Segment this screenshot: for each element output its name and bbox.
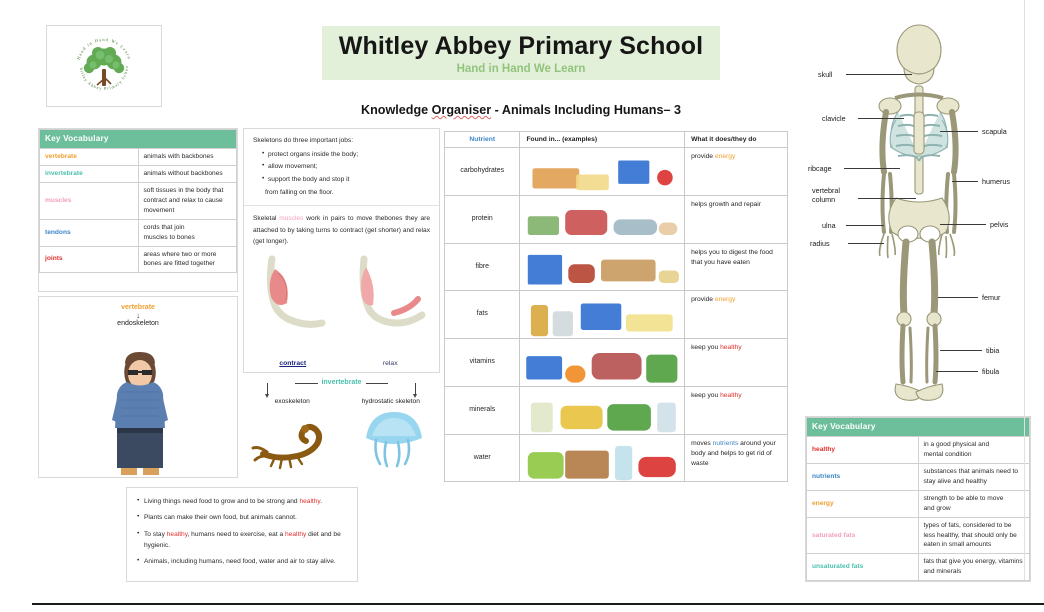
fact-item: Plants can make their own food, but anim…: [137, 512, 347, 523]
kv-definition: areas where two or more bones are fitted…: [138, 246, 237, 273]
kv-row: vertebrateanimals with backbones: [40, 149, 237, 166]
para-pre: Skeletal: [253, 215, 279, 222]
kv-definition: types of fats, considered to be less hea…: [918, 517, 1030, 554]
nutrient-col-header: Found in... (examples): [520, 132, 685, 148]
subtitle-pre: Knowledge: [361, 103, 432, 117]
skeleton-label-ulna: ulna: [822, 221, 836, 230]
leader-line: [846, 74, 912, 75]
kv-row: tendonscords that joinmuscles to bones: [40, 219, 237, 246]
kv-definition: fats that give you energy, vitamins and …: [918, 554, 1030, 581]
invertebrate-type-labels: exoskeleton hydrostatic skeleton: [243, 398, 440, 405]
fact-item: Animals, including humans, need food, wa…: [137, 556, 347, 567]
kv-right-header: Key Vocabulary: [807, 418, 1030, 437]
key-vocabulary-right-card: Key Vocabulary healthyin a good physical…: [805, 416, 1031, 582]
leader-line: [858, 198, 916, 199]
nutrient-effect: provide energy: [685, 148, 788, 196]
skeletal-muscles-paragraph: Skeletal muscles work in pairs to move t…: [244, 205, 439, 253]
skeleton-label-fibula: fibula: [982, 367, 999, 376]
fact-item: To stay healthy, humans need to exercise…: [137, 529, 347, 552]
leader-line: [940, 224, 986, 225]
relax-label: relax: [342, 360, 440, 367]
nutrient-effect: keep you healthy: [685, 339, 788, 387]
hydrostatic-skeleton-label: hydrostatic skeleton: [342, 398, 441, 405]
nutrient-name: fats: [445, 291, 520, 339]
girl-illustration: [97, 344, 183, 481]
nutrient-effect: moves nutrients around your body and hel…: [685, 434, 788, 482]
jobs-item: protect organs inside the body;: [262, 150, 430, 161]
skeleton-jobs-card: Skeletons do three important jobs: prote…: [243, 128, 440, 373]
nutrient-food-illustration: [520, 339, 685, 387]
kv-term: vertebrate: [40, 149, 139, 166]
kv-term: nutrients: [807, 464, 919, 491]
invertebrate-branch-left: [267, 383, 268, 394]
nutrient-effect: helps growth and repair: [685, 195, 788, 243]
leader-line: [938, 297, 978, 298]
skeleton-label-ribcage: ribcage: [808, 164, 832, 173]
leader-line: [844, 168, 900, 169]
skeleton-label-pelvis: pelvis: [990, 220, 1008, 229]
nutrient-name: minerals: [445, 386, 520, 434]
nutrient-row: watermoves nutrients around your body an…: [445, 434, 788, 482]
nutrient-name: fibre: [445, 243, 520, 291]
nutrient-effect: keep you healthy: [685, 386, 788, 434]
nutrient-food-illustration: [520, 386, 685, 434]
kv-term: invertebrate: [40, 166, 139, 183]
kv-definition: animals without backbones: [138, 166, 237, 183]
jellyfish-illustration: [358, 408, 430, 475]
nutrient-food-illustration: [520, 291, 685, 339]
knowledge-organiser-page: Hand in Hand We Learn Whitley Abbey Prim…: [0, 0, 1044, 612]
nutrient-food-illustration: [520, 148, 685, 196]
human-skeleton-diagram: skullclavicleribcagevertebralcolumnulnar…: [800, 12, 1038, 412]
nutrient-food-illustration: [520, 243, 685, 291]
skeleton-label-skull: skull: [818, 70, 832, 79]
skeleton-jobs-list: Skeletons do three important jobs: prote…: [244, 129, 439, 205]
vertebrate-heading: vertebrate ↓ endoskeleton: [39, 297, 237, 327]
kv-definition: in a good physical andmental condition: [918, 437, 1030, 464]
muscle-state-labels: contract relax: [244, 360, 439, 367]
jobs-item3-continuation: from falling on the floor.: [253, 188, 430, 199]
leader-line: [846, 225, 884, 226]
effect-highlight: energy: [715, 296, 735, 303]
effect-highlight: healthy: [720, 392, 742, 399]
leader-line: [858, 118, 904, 119]
kv-row: jointsareas where two or more bones are …: [40, 246, 237, 273]
nutrient-food-illustration: [520, 434, 685, 482]
nutrient-row: carbohydratesprovide energy: [445, 148, 788, 196]
down-arrow-icon: ↓: [39, 311, 237, 320]
vertebrate-label: vertebrate: [39, 304, 237, 311]
subtitle-organiser: Organiser: [432, 103, 492, 117]
title-banner: Whitley Abbey Primary School Hand in Han…: [322, 26, 720, 80]
nutrient-food-illustration: [520, 195, 685, 243]
kv-definition: strength to be able to moveand grow: [918, 490, 1030, 517]
leader-line: [936, 371, 978, 372]
kv-row: nutrientssubstances that animals need to…: [807, 464, 1030, 491]
kv-definition: animals with backbones: [138, 149, 237, 166]
leader-line: [940, 350, 982, 351]
kv-term: energy: [807, 490, 919, 517]
nutrient-row: fatsprovide energy: [445, 291, 788, 339]
kv-row: healthyin a good physical andmental cond…: [807, 437, 1030, 464]
fact-highlight: healthy: [299, 498, 320, 505]
endoskeleton-label: endoskeleton: [39, 320, 237, 327]
kv-term: healthy: [807, 437, 919, 464]
nutrient-table-card: NutrientFound in... (examples)What it do…: [444, 131, 788, 483]
skeleton-label-tibia: tibia: [986, 346, 999, 355]
invertebrate-panel: invertebrate exoskeleton hydrostatic ske…: [243, 378, 440, 478]
scorpion-illustration: [249, 412, 341, 475]
effect-highlight: healthy: [720, 344, 742, 351]
nutrient-name: water: [445, 434, 520, 482]
page-title: Whitley Abbey Primary School: [322, 26, 720, 61]
school-motto: Hand in Hand We Learn: [322, 63, 720, 75]
skeleton-label-humerus: humerus: [982, 177, 1010, 186]
kv-row: invertebrateanimals without backbones: [40, 166, 237, 183]
nutrient-row: vitaminskeep you healthy: [445, 339, 788, 387]
invertebrate-branch-right: [415, 383, 416, 394]
jobs-item: support the body and stop it: [262, 175, 430, 186]
school-logo: Hand in Hand We Learn Whitley Abbey Prim…: [46, 25, 162, 107]
skeleton-label-clavicle: clavicle: [822, 114, 846, 123]
nutrient-row: mineralskeep you healthy: [445, 386, 788, 434]
document-subtitle: Knowledge Organiser - Animals Including …: [322, 103, 720, 117]
kv-term: muscles: [40, 183, 139, 220]
subtitle-post: - Animals Including Humans– 3: [491, 103, 681, 117]
facts-list: Living things need food to grow and to b…: [127, 488, 357, 581]
muscle-contract-relax-diagram: contract relax: [244, 253, 439, 371]
leader-line: [940, 131, 978, 132]
nutrient-table: NutrientFound in... (examples)What it do…: [444, 131, 788, 482]
skeleton-label-radius: radius: [810, 239, 830, 248]
effect-highlight: nutrients: [713, 440, 739, 447]
page-edge-divider: [1024, 0, 1025, 580]
kv-definition: substances that animals need to stay ali…: [918, 464, 1030, 491]
skeleton-label-scapula: scapula: [982, 127, 1007, 136]
effect-highlight: energy: [715, 153, 735, 160]
kv-row: musclessoft tissues in the body that con…: [40, 183, 237, 220]
invertebrate-label: invertebrate: [317, 379, 365, 386]
nutrient-col-header: What it does/they do: [685, 132, 788, 148]
nutrient-row: fibrehelps you to digest the food that y…: [445, 243, 788, 291]
tree-logo-icon: Hand in Hand We Learn Whitley Abbey Prim…: [71, 33, 137, 99]
nutrient-name: vitamins: [445, 339, 520, 387]
kv-left-header: Key Vocabulary: [40, 130, 237, 149]
contract-label[interactable]: contract: [244, 360, 342, 367]
nutrient-name: protein: [445, 195, 520, 243]
kv-term: joints: [40, 246, 139, 273]
kv-term: unsaturated fats: [807, 554, 919, 581]
kv-term: saturated fats: [807, 517, 919, 554]
key-vocabulary-right-table: Key Vocabulary healthyin a good physical…: [806, 417, 1030, 581]
jobs-item: allow movement;: [262, 162, 430, 173]
kv-row: energystrength to be able to moveand gro…: [807, 490, 1030, 517]
kv-definition: soft tissues in the body that contract a…: [138, 183, 237, 220]
kv-row: saturated fatstypes of fats, considered …: [807, 517, 1030, 554]
nutrient-name: carbohydrates: [445, 148, 520, 196]
kv-row: unsaturated fatsfats that give you energ…: [807, 554, 1030, 581]
leader-line: [952, 181, 978, 182]
fact-item: Living things need food to grow and to b…: [137, 496, 347, 507]
nutrient-row: proteinhelps growth and repair: [445, 195, 788, 243]
exoskeleton-label: exoskeleton: [243, 398, 342, 405]
key-vocabulary-left-card: Key Vocabulary vertebrateanimals with ba…: [38, 128, 238, 292]
nutrient-effect: helps you to digest the food that you ha…: [685, 243, 788, 291]
jobs-lead: Skeletons do three important jobs:: [253, 136, 430, 147]
nutrient-effect: provide energy: [685, 291, 788, 339]
nutrient-col-header: Nutrient: [445, 132, 520, 148]
para-muscles-highlight: muscles: [279, 215, 303, 222]
kv-term: tendons: [40, 219, 139, 246]
key-vocabulary-left-table: Key Vocabulary vertebrateanimals with ba…: [39, 129, 237, 273]
kv-definition: cords that joinmuscles to bones: [138, 219, 237, 246]
fact-highlight: healthy: [285, 531, 306, 538]
facts-card: Living things need food to grow and to b…: [126, 487, 358, 582]
fact-highlight: healthy: [167, 531, 188, 538]
vertebrate-panel: vertebrate ↓ endoskeleton: [38, 296, 238, 478]
skeleton-label-femur: femur: [982, 293, 1000, 302]
bottom-rule: [32, 603, 1044, 605]
leader-line: [848, 243, 884, 244]
skeleton-label-vertebral-column: vertebralcolumn: [812, 186, 840, 204]
